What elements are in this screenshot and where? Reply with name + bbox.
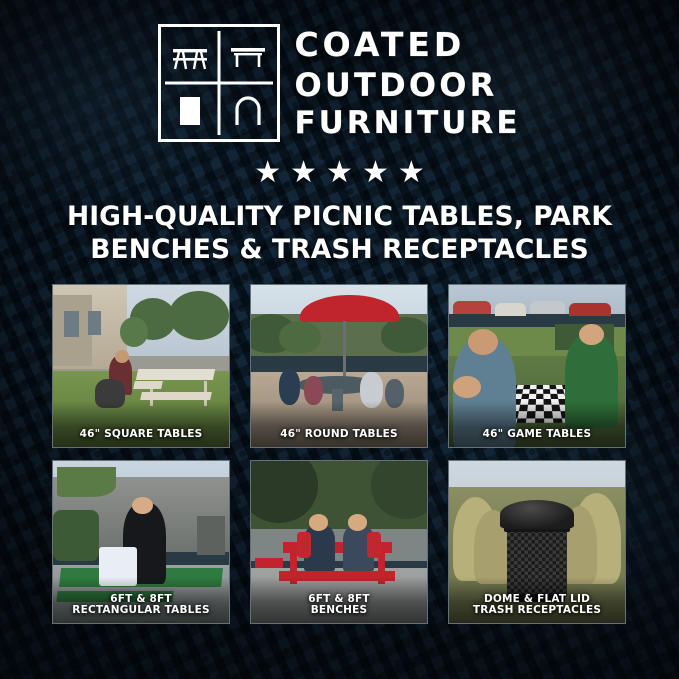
gallery-item-trash-receptacles[interactable]: DOME & FLAT LID TRASH RECEPTACLES <box>448 460 626 624</box>
gallery-caption: 6FT & 8FT RECTANGULAR TABLES <box>53 590 229 624</box>
brand-logo: COATED OUTDOOR FURNITURE <box>0 24 679 142</box>
caption-line-2: TRASH RECEPTACLES <box>453 605 621 617</box>
caption-line-2: RECTANGULAR TABLES <box>57 605 225 617</box>
star-icon: ★ <box>254 158 281 188</box>
caption-line-1: 46" ROUND TABLES <box>255 429 423 441</box>
star-icon: ★ <box>398 158 425 188</box>
ad-banner: COATED OUTDOOR FURNITURE ★ ★ ★ ★ ★ HIGH-… <box>0 0 679 679</box>
dome-lid-receptacle-icon <box>219 83 277 139</box>
brand-wordmark: COATED OUTDOOR FURNITURE <box>294 24 520 141</box>
star-icon: ★ <box>362 158 389 188</box>
star-icon: ★ <box>326 158 353 188</box>
gallery-caption: 46" SQUARE TABLES <box>53 425 229 447</box>
star-icon: ★ <box>290 158 317 188</box>
gallery-caption: 46" GAME TABLES <box>449 425 625 447</box>
brand-line-2: OUTDOOR <box>294 67 520 104</box>
brand-line-1: COATED <box>294 26 520 64</box>
gallery-item-benches[interactable]: 6FT & 8FT BENCHES <box>250 460 428 624</box>
picnic-table-icon <box>161 27 219 83</box>
gallery-caption: 6FT & 8FT BENCHES <box>251 590 427 624</box>
gallery-item-game-tables[interactable]: 46" GAME TABLES <box>448 284 626 448</box>
park-bench-icon <box>219 27 277 83</box>
gallery-item-round-tables[interactable]: 46" ROUND TABLES <box>250 284 428 448</box>
gallery-caption: 46" ROUND TABLES <box>251 425 427 447</box>
gallery-item-square-tables[interactable]: 46" SQUARE TABLES <box>52 284 230 448</box>
gallery-item-rectangular-tables[interactable]: 6FT & 8FT RECTANGULAR TABLES <box>52 460 230 624</box>
trash-receptacle-icon <box>161 83 219 139</box>
caption-line-1: 46" SQUARE TABLES <box>57 429 225 441</box>
headline-line-2: BENCHES & TRASH RECEPTACLES <box>40 233 639 266</box>
caption-line-2: BENCHES <box>255 605 423 617</box>
logo-mark-icon <box>158 24 280 142</box>
page-title: HIGH-QUALITY PICNIC TABLES, PARK BENCHES… <box>40 200 639 267</box>
star-rating: ★ ★ ★ ★ ★ <box>0 158 679 188</box>
gallery-caption: DOME & FLAT LID TRASH RECEPTACLES <box>449 590 625 624</box>
caption-line-1: 46" GAME TABLES <box>453 429 621 441</box>
brand-line-3: FURNITURE <box>294 106 520 142</box>
product-gallery: 46" SQUARE TABLES <box>52 284 627 624</box>
headline-line-1: HIGH-QUALITY PICNIC TABLES, PARK <box>40 200 639 233</box>
